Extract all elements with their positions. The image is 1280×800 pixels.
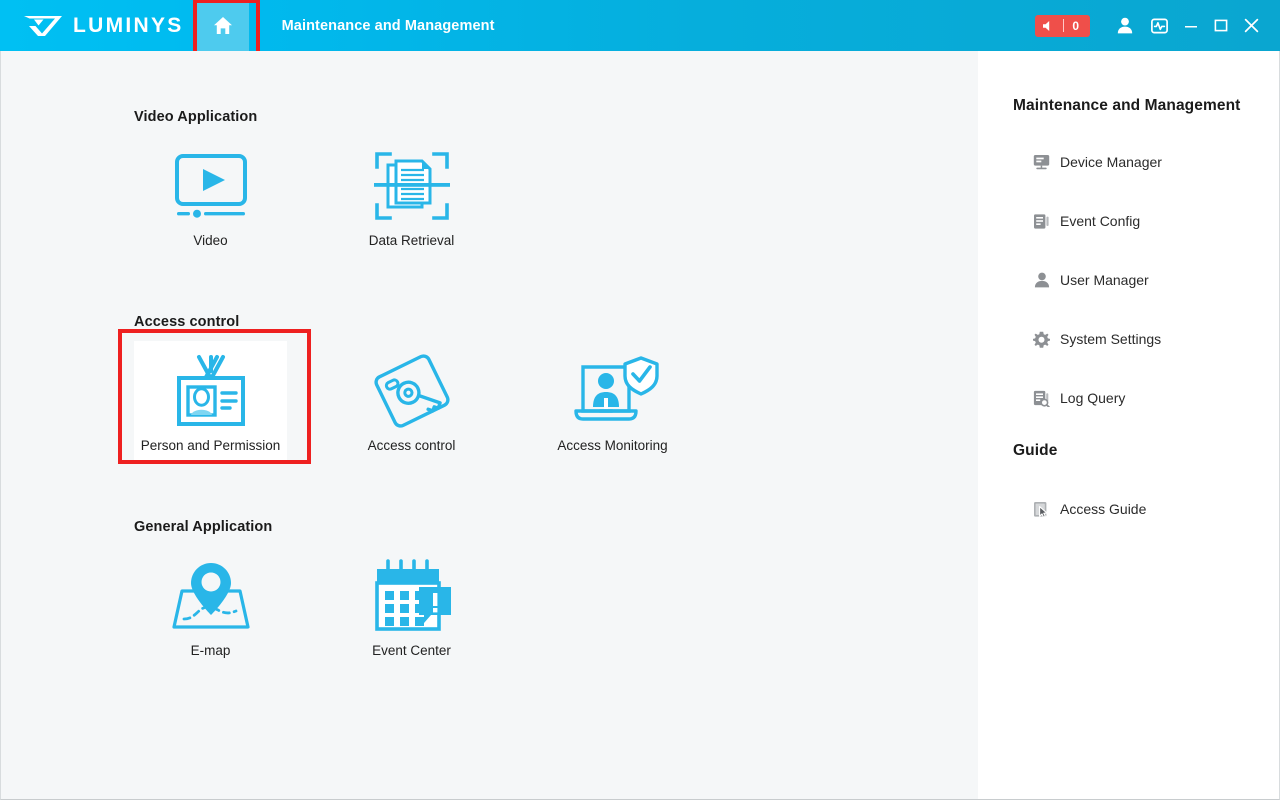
map-pin-icon bbox=[166, 558, 256, 634]
sidebar-item-device-manager[interactable]: Device Manager bbox=[1013, 147, 1279, 177]
sidebar-item-system-settings[interactable]: System Settings bbox=[1013, 324, 1279, 354]
pulse-icon bbox=[1151, 18, 1168, 34]
sidebar-item-label: System Settings bbox=[1060, 331, 1161, 347]
tile-person-and-permission[interactable]: Person and Permission bbox=[134, 341, 287, 460]
luminys-mark-icon bbox=[22, 13, 64, 39]
section-title: Access control bbox=[134, 314, 689, 330]
calendar-alert-icon bbox=[369, 558, 455, 634]
tile-group: E-map bbox=[134, 546, 488, 665]
video-player-icon bbox=[165, 148, 257, 224]
tile-access-monitoring[interactable]: Access Monitoring bbox=[536, 341, 689, 460]
brand-name: LUMINYS bbox=[73, 15, 184, 36]
tile-label: Access Monitoring bbox=[557, 438, 667, 453]
user-icon bbox=[1117, 17, 1133, 34]
tile-event-center[interactable]: Event Center bbox=[335, 546, 488, 665]
device-monitor-icon bbox=[1033, 154, 1050, 171]
tile-label: Data Retrieval bbox=[369, 233, 455, 248]
home-icon bbox=[213, 16, 233, 35]
main-pane: Video Application Video bbox=[1, 51, 978, 799]
sidebar-heading: Maintenance and Management bbox=[1013, 97, 1279, 115]
event-config-icon bbox=[1033, 213, 1050, 230]
sidebar-item-label: Access Guide bbox=[1060, 501, 1146, 517]
maximize-button[interactable] bbox=[1206, 0, 1236, 51]
tile-access-control[interactable]: Access control bbox=[335, 341, 488, 460]
gear-icon bbox=[1033, 331, 1050, 348]
sidebar-item-event-config[interactable]: Event Config bbox=[1013, 206, 1279, 236]
tile-video[interactable]: Video bbox=[134, 136, 287, 255]
sidebar-item-log-query[interactable]: Log Query bbox=[1013, 383, 1279, 413]
close-button[interactable] bbox=[1236, 0, 1266, 51]
guide-cursor-icon bbox=[1033, 501, 1050, 518]
badge-divider bbox=[1063, 19, 1064, 32]
alarm-badge[interactable]: 0 bbox=[1035, 15, 1090, 37]
sidebar-guide-heading: Guide bbox=[1013, 442, 1279, 460]
content-area: Video Application Video bbox=[0, 51, 1280, 800]
section-general-application: General Application E-map bbox=[134, 519, 488, 665]
key-card-icon bbox=[370, 353, 454, 429]
document-scan-icon bbox=[372, 148, 452, 224]
sidebar-item-label: Event Config bbox=[1060, 213, 1140, 229]
tile-label: Event Center bbox=[372, 643, 451, 658]
titlebar-controls: 0 bbox=[1035, 0, 1280, 51]
tile-data-retrieval[interactable]: Data Retrieval bbox=[335, 136, 488, 255]
maximize-icon bbox=[1214, 19, 1228, 32]
section-title: General Application bbox=[134, 519, 488, 535]
tile-group: Person and Permission bbox=[134, 341, 689, 460]
sidebar-item-label: Log Query bbox=[1060, 390, 1125, 406]
home-button[interactable] bbox=[197, 0, 249, 51]
section-video-application: Video Application Video bbox=[134, 109, 488, 255]
section-access-control: Access control bbox=[134, 314, 689, 460]
tile-group: Video bbox=[134, 136, 488, 255]
tile-label: Person and Permission bbox=[141, 438, 281, 453]
log-search-icon bbox=[1033, 390, 1050, 407]
id-badge-icon bbox=[169, 353, 253, 429]
user-manager-icon bbox=[1033, 272, 1050, 289]
sidebar-item-user-manager[interactable]: User Manager bbox=[1013, 265, 1279, 295]
sidebar-item-label: Device Manager bbox=[1060, 154, 1162, 170]
sidebar-item-label: User Manager bbox=[1060, 272, 1149, 288]
sidebar-menu: Device Manager Event Config bbox=[1013, 147, 1279, 413]
sidebar-guide-menu: Access Guide bbox=[1013, 494, 1279, 524]
health-icon-button[interactable] bbox=[1142, 0, 1176, 51]
brand-logo: LUMINYS bbox=[0, 0, 194, 51]
section-title: Video Application bbox=[134, 109, 488, 125]
right-sidebar: Maintenance and Management Device Manage… bbox=[978, 51, 1279, 799]
title-bar: LUMINYS Maintenance and Management 0 bbox=[0, 0, 1280, 51]
tile-emap[interactable]: E-map bbox=[134, 546, 287, 665]
sidebar-item-access-guide[interactable]: Access Guide bbox=[1013, 494, 1279, 524]
tile-label: Access control bbox=[368, 438, 456, 453]
tile-label: E-map bbox=[191, 643, 231, 658]
speaker-icon bbox=[1042, 20, 1056, 32]
minimize-icon bbox=[1184, 20, 1198, 32]
close-icon bbox=[1244, 18, 1259, 33]
user-icon-button[interactable] bbox=[1108, 0, 1142, 51]
alarm-count: 0 bbox=[1072, 20, 1082, 32]
module-title: Maintenance and Management bbox=[282, 18, 495, 34]
minimize-button[interactable] bbox=[1176, 0, 1206, 51]
laptop-person-shield-icon bbox=[567, 353, 659, 429]
tile-label: Video bbox=[193, 233, 227, 248]
